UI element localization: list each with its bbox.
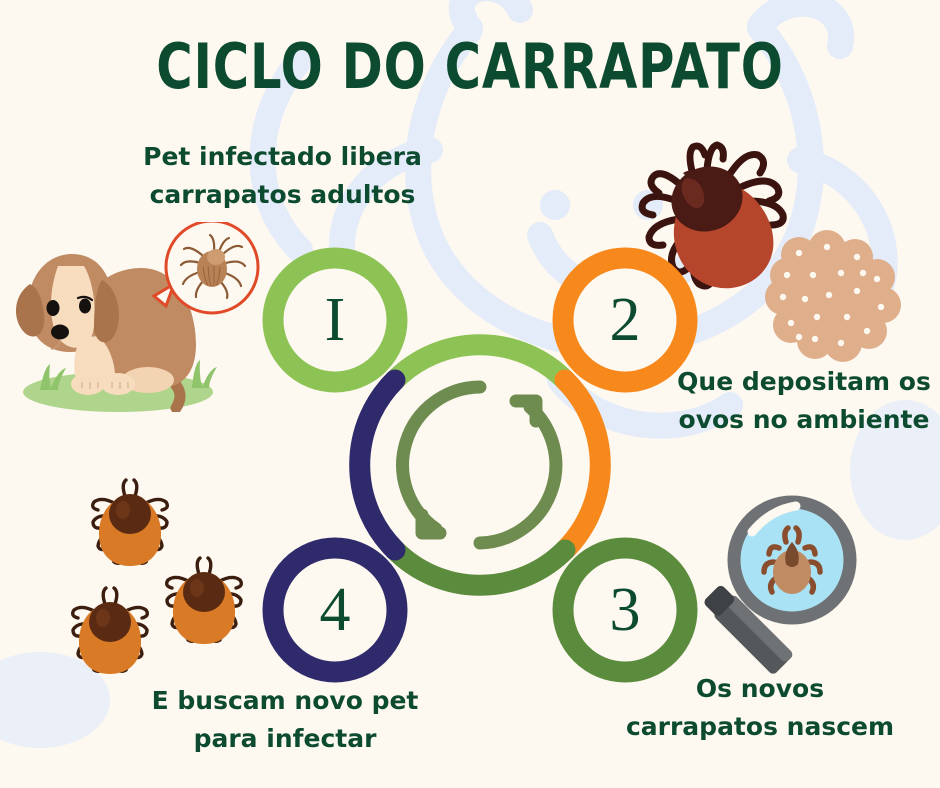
step-4-number: 4 [320,576,351,644]
cycle-arc-step-1 [395,345,565,380]
cycle-diagram: I 2 3 4 [240,225,720,705]
step-1-number: I [325,286,346,354]
cycle-step-3[interactable]: 3 [563,548,687,672]
tick-egg-cluster-illustration [765,225,910,370]
step-4-caption: E buscam novo pet para infectar [120,682,450,758]
cycle-arc-step-2 [565,380,600,550]
infographic-canvas: CICLO DO CARRAPATO [0,0,940,788]
step-3-number: 3 [610,576,641,644]
step-2-caption: Que depositam os ovos no ambiente [668,363,940,439]
refresh-cycle-arrow-icon [403,387,556,543]
cycle-arc-step-3 [395,550,565,585]
step-1-caption: Pet infectado libera carrapatos adultos [110,138,455,214]
cycle-arc-step-4 [360,380,395,550]
sad-dog-illustration [6,222,276,412]
step-2-number: 2 [610,286,641,354]
page-title: CICLO DO CARRAPATO [94,36,846,98]
step-3-caption: Os novos carrapatos nascem [600,670,920,746]
cycle-step-4[interactable]: 4 [273,548,397,672]
cycle-step-1[interactable]: I [273,258,397,382]
